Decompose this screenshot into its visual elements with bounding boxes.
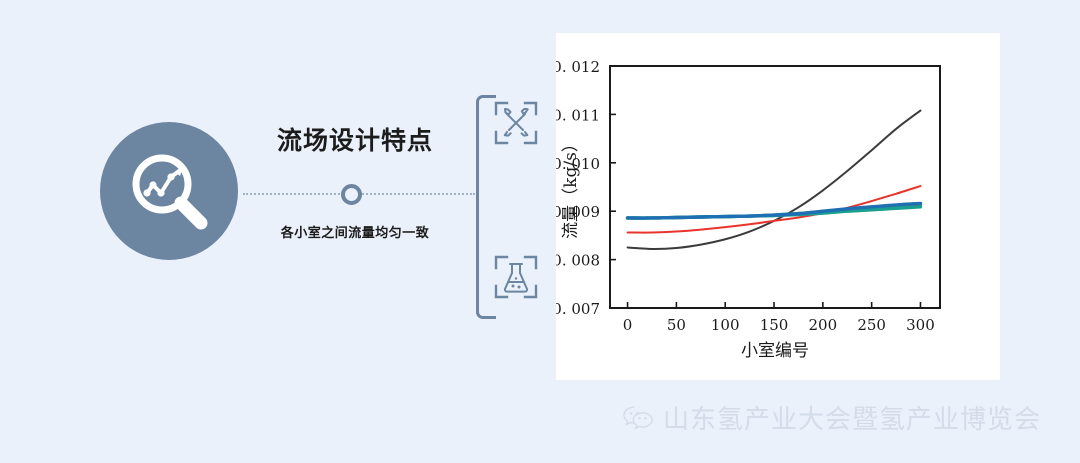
flow-rate-line-chart: 0. 0070. 0080. 0090. 0100. 0110. 012 050… <box>556 33 1000 380</box>
watermark: 山东氢产业大会暨氢产业博览会 <box>622 399 1041 436</box>
x-tick-label: 100 <box>711 316 740 334</box>
y-axis-label: 流量（kg/s） <box>561 135 581 239</box>
watermark-text: 山东氢产业大会暨氢产业博览会 <box>663 399 1041 436</box>
connector-node <box>341 184 362 205</box>
wechat-icon <box>622 405 654 431</box>
flask-icon-glyph <box>494 255 538 299</box>
x-tick-label: 50 <box>667 316 686 334</box>
y-tick-label: 0. 008 <box>556 252 600 270</box>
plot-frame <box>610 66 940 308</box>
slide-canvas: 流场设计特点 各小室之间流量均匀一致 <box>0 0 1080 463</box>
x-tick-label: 0 <box>623 316 633 334</box>
x-tick-label: 300 <box>906 316 935 334</box>
feature-icon-circle <box>100 122 238 260</box>
x-tick-label: 250 <box>857 316 886 334</box>
x-axis-tick-labels: 050100150200250300 <box>623 316 935 334</box>
y-tick-label: 0. 007 <box>556 300 600 318</box>
tools-icon[interactable] <box>494 101 538 145</box>
x-tick-label: 150 <box>760 316 789 334</box>
magnifier-chart-icon <box>121 143 217 239</box>
flask-icon[interactable] <box>494 255 538 299</box>
bracket-group <box>476 95 496 319</box>
x-axis-label: 小室编号 <box>741 341 809 361</box>
y-tick-label: 0. 011 <box>556 106 600 124</box>
x-tick-label: 200 <box>809 316 838 334</box>
tools-icon-glyph <box>494 101 538 145</box>
chart-panel: 0. 0070. 0080. 0090. 0100. 0110. 012 050… <box>556 33 1000 380</box>
feature-subtitle: 各小室之间流量均匀一致 <box>248 222 462 241</box>
feature-title: 流场设计特点 <box>263 126 447 156</box>
y-tick-label: 0. 012 <box>556 58 600 76</box>
